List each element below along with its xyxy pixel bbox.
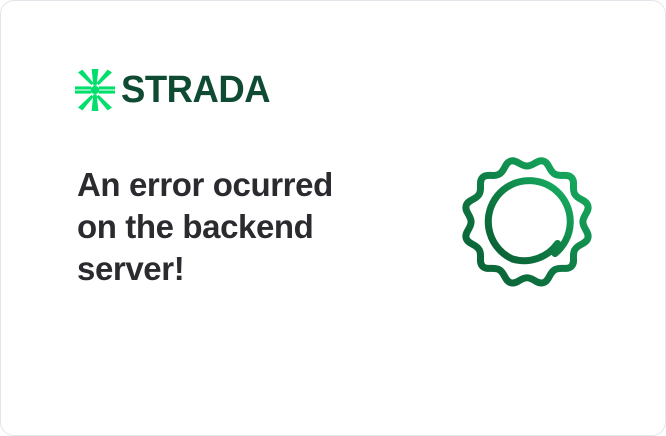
strada-asterisk-icon	[75, 69, 115, 111]
brand-wordmark: STRADA	[121, 71, 270, 109]
gear-icon	[445, 139, 609, 305]
error-card: STRADA An error ocurred on the backend s…	[0, 0, 666, 436]
error-message: An error ocurred on the backend server!	[77, 164, 367, 290]
brand-logo: STRADA	[75, 69, 276, 111]
